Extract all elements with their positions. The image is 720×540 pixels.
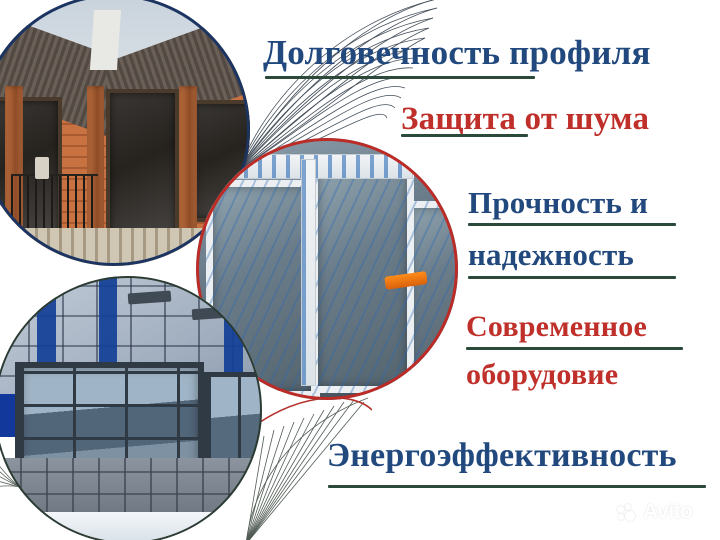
slogan-underline bbox=[466, 347, 683, 350]
wall-lamp bbox=[35, 157, 49, 179]
veka-protective-film bbox=[301, 159, 316, 386]
slogan-underline bbox=[468, 276, 676, 279]
slogan-durability: Долговечность профиля bbox=[263, 33, 651, 73]
stone-plinth bbox=[0, 458, 262, 517]
slogan-modern-equipment-line2: оборудовие bbox=[466, 358, 618, 392]
facade-scene bbox=[0, 276, 262, 540]
slogan-underline bbox=[328, 485, 706, 488]
slogan-strength-line2: надежность bbox=[468, 237, 634, 273]
slogan-energy-efficiency: Энергоэффективность bbox=[327, 437, 677, 475]
roof-peak bbox=[90, 10, 121, 70]
slogan-underline bbox=[468, 223, 676, 226]
advertising-banner: Долговечность профиля Защита от шума Про… bbox=[0, 0, 720, 540]
house-window bbox=[106, 89, 179, 247]
avito-watermark: Avito bbox=[617, 500, 693, 524]
slogan-underline bbox=[401, 134, 528, 137]
panoramic-glazing-secondary bbox=[203, 372, 262, 468]
slogan-strength-line1: Прочность и bbox=[468, 185, 648, 221]
avito-watermark-label: Avito bbox=[643, 500, 693, 524]
avito-logo-icon bbox=[617, 504, 639, 521]
slogan-modern-equipment-line1: Современное bbox=[466, 310, 647, 344]
photo-facade-circle bbox=[0, 276, 262, 540]
slogan-noise-protection: Защита от шума bbox=[401, 101, 649, 138]
snow-ground bbox=[0, 512, 262, 540]
slogan-underline bbox=[265, 76, 535, 79]
